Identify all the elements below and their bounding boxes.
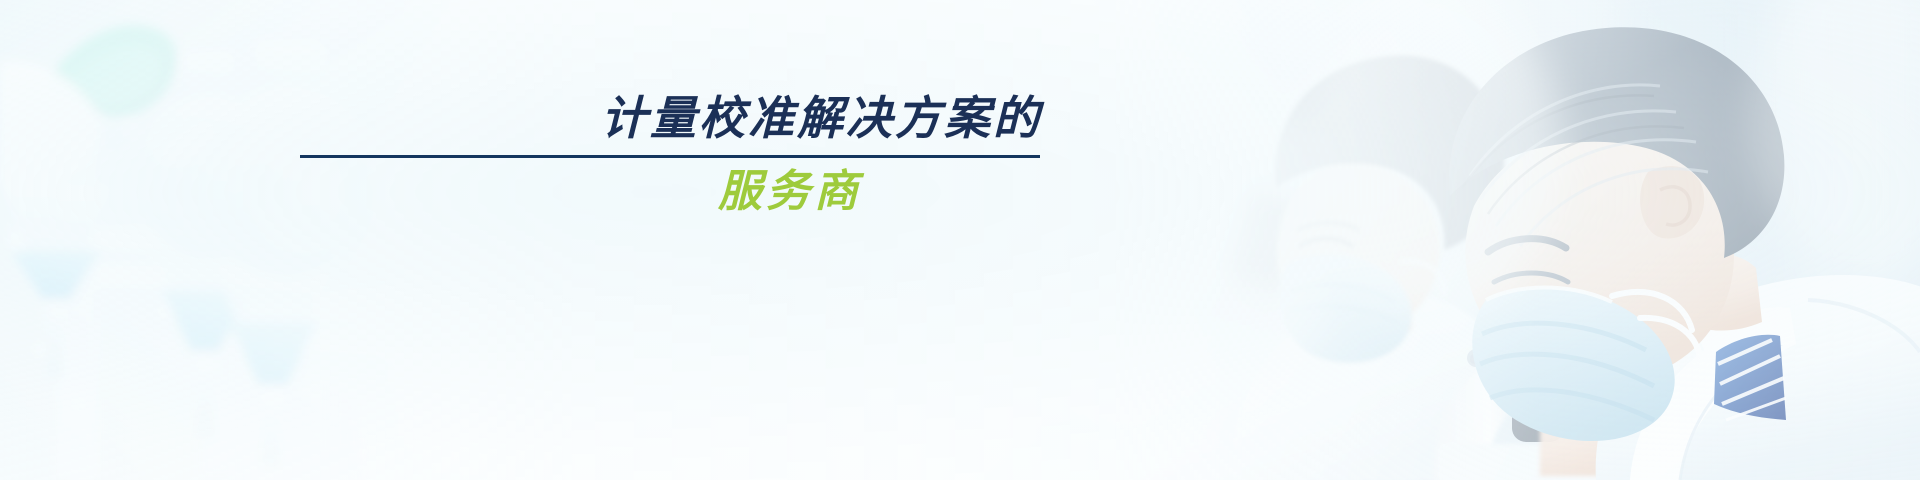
headline-divider	[300, 155, 1040, 158]
hero-banner: 计量校准解决方案的 服务商	[0, 0, 1920, 480]
headline-block: 计量校准解决方案的 服务商	[300, 95, 1060, 214]
headline-line-1: 计量校准解决方案的	[300, 95, 1060, 141]
background-photo	[0, 0, 1920, 480]
headline-line-2: 服务商	[300, 170, 1060, 214]
